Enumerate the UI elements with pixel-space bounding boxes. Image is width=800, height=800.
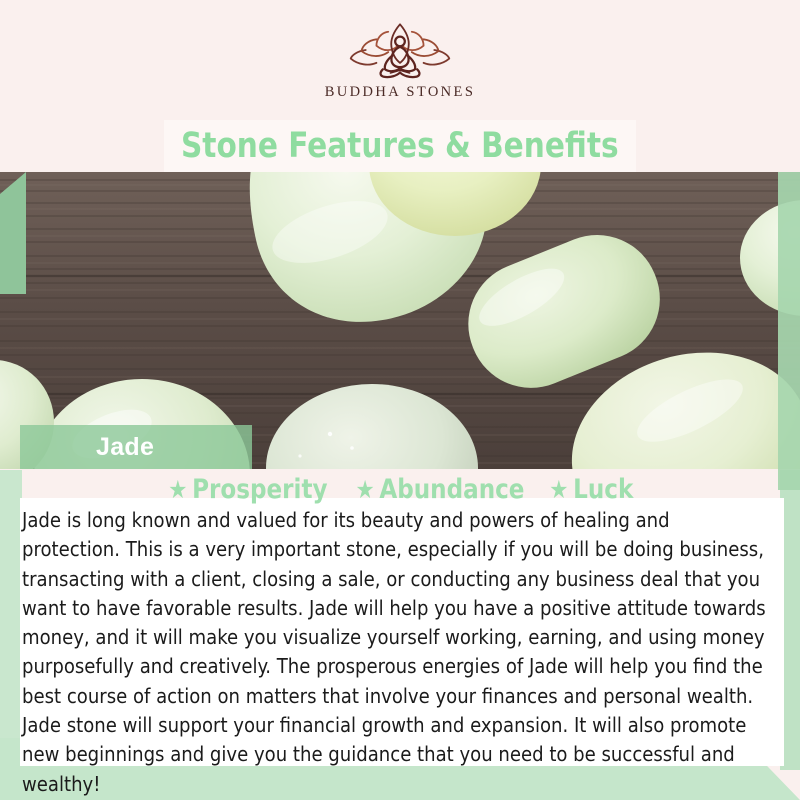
benefit-item-abundance: ★Abundance bbox=[355, 474, 524, 505]
benefit-item-prosperity: ★Prosperity bbox=[169, 474, 328, 505]
star-icon: ★ bbox=[169, 475, 188, 504]
accent-shape-right bbox=[778, 172, 800, 490]
benefit-item-luck: ★Luck bbox=[549, 474, 633, 505]
star-icon: ★ bbox=[355, 475, 374, 504]
benefit-label: Prosperity bbox=[193, 474, 328, 505]
stone-name-band: Jade bbox=[20, 425, 252, 469]
brand-header: BUDDHA STONES bbox=[0, 0, 800, 118]
page-title: Stone Features & Benefits bbox=[181, 126, 619, 166]
benefit-label: Luck bbox=[573, 474, 633, 505]
title-banner: Stone Features & Benefits bbox=[164, 120, 636, 172]
star-icon: ★ bbox=[549, 475, 568, 504]
lotus-meditation-icon bbox=[346, 20, 454, 80]
benefit-label: Abundance bbox=[379, 474, 524, 505]
poster: BUDDHA STONES Stone Features & Benefits bbox=[0, 0, 800, 800]
stone-description: Jade is long known and valued for its be… bbox=[22, 506, 773, 799]
brand-name: BUDDHA STONES bbox=[325, 84, 476, 101]
accent-strip-left-lower bbox=[0, 470, 22, 770]
stone-name-label: Jade bbox=[20, 433, 154, 462]
benefits-row: ★Prosperity ★Abundance ★Luck bbox=[0, 474, 800, 505]
